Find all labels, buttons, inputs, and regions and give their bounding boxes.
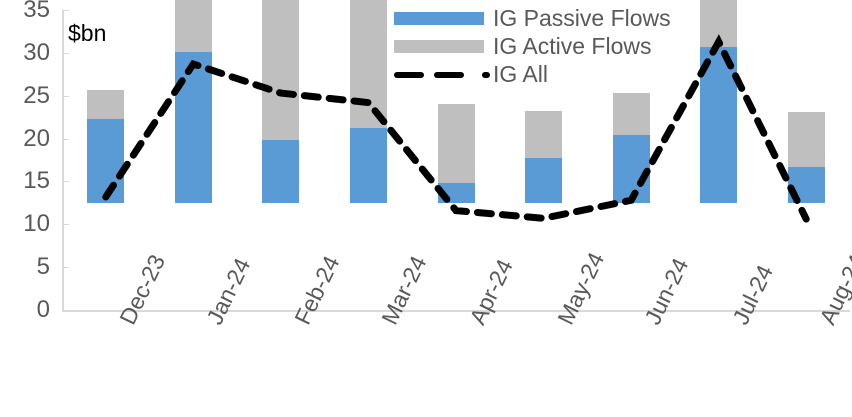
chart-container: 05101520253035 Dec-23Jan-24Feb-24Mar-24A… — [0, 0, 852, 417]
legend-label: IG Active Flows — [493, 35, 651, 58]
legend-item-ig-passive-flows[interactable]: IG Passive Flows — [394, 4, 694, 32]
units-label: $bn — [68, 22, 106, 45]
x-axis-tick-jun-24: Jun-24 — [641, 255, 693, 328]
legend-dash-segment — [394, 72, 424, 78]
legend-swatch-passive — [394, 12, 484, 25]
legend-swatch-active — [394, 40, 484, 53]
x-axis-tick-mar-24: Mar-24 — [378, 253, 431, 329]
x-axis-tick-apr-24: Apr-24 — [466, 256, 517, 328]
x-axis-tick-feb-24: Feb-24 — [291, 253, 344, 329]
x-axis-tick-jan-24: Jan-24 — [203, 255, 255, 328]
legend-label: IG Passive Flows — [493, 7, 671, 30]
x-axis-tick-may-24: May-24 — [554, 249, 608, 328]
x-axis-tick-dec-23: Dec-23 — [116, 251, 169, 328]
legend-dash-segment — [482, 72, 490, 78]
legend-dash-segment — [434, 72, 464, 78]
x-axis-tick-jul-24: Jul-24 — [729, 262, 777, 328]
legend-label: IG All — [493, 63, 548, 86]
legend-item-ig-all[interactable]: IG All — [394, 60, 694, 88]
legend-swatch-dashed-line — [394, 67, 484, 81]
legend-item-ig-active-flows[interactable]: IG Active Flows — [394, 32, 694, 60]
chart-legend: IG Passive FlowsIG Active FlowsIG All — [394, 4, 694, 88]
x-axis-tick-aug-24: Aug-24 — [816, 251, 852, 328]
